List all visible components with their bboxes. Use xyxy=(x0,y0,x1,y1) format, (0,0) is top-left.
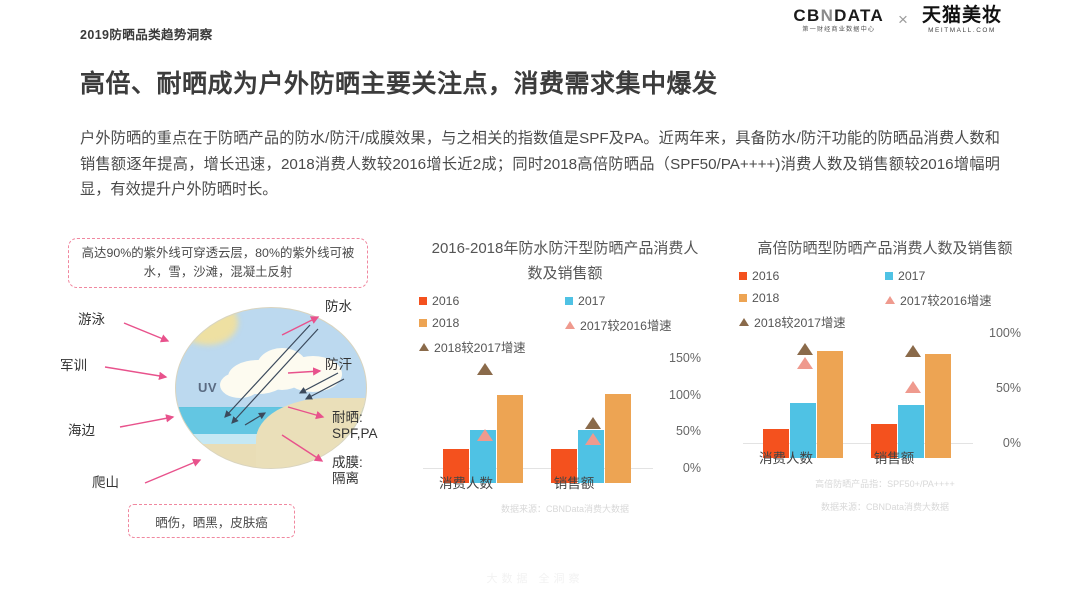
illustration-label-seaside: 海边 xyxy=(68,423,95,439)
bar-2018[interactable] xyxy=(605,394,631,484)
uv-fact-callout-text: 高达90%的紫外线可穿透云层，80%的紫外线可被水，雪，沙滩，混凝土反射 xyxy=(77,244,359,282)
legend-label-2016: 2016 xyxy=(752,269,779,283)
chart-high-spf-footnote-definition: 高倍防晒产品指：SPF50+/PA++++ xyxy=(735,476,1035,493)
page-watermark: 大数据 全洞察 xyxy=(440,570,630,586)
illustration-label-waterproof: 防水 xyxy=(325,299,352,315)
legend-label-growth-2018: 2018较2017增速 xyxy=(434,338,526,356)
legend-triangle-growth-2018 xyxy=(739,318,749,326)
chart-waterproof-footnote: 数据来源：CBNData消费大数据 xyxy=(415,501,715,518)
legend-swatch-2016 xyxy=(739,272,747,280)
legend-item-2016[interactable]: 2016 xyxy=(419,294,459,308)
legend-label-growth-2017: 2017较2016增速 xyxy=(580,316,672,334)
legend-label-growth-2017: 2017较2016增速 xyxy=(900,291,992,309)
legend-swatch-2018 xyxy=(739,294,747,302)
chart-waterproof-plot: 150% 100% 50% 0% 消费人数 销售额 xyxy=(415,358,705,483)
tmall-logo-wordmark: 天猫美妆 xyxy=(922,6,1002,25)
legend-label-2016: 2016 xyxy=(432,294,459,308)
marker-growth-2018-g0 xyxy=(477,363,493,375)
ytick: 100% xyxy=(669,388,701,402)
legend-swatch-2018 xyxy=(419,319,427,327)
bar-2018[interactable] xyxy=(925,354,951,459)
cbndata-logo-wordmark: CBNDATA xyxy=(793,7,884,24)
chart-high-spf-footnote-source: 数据来源：CBNData消费大数据 xyxy=(735,499,1035,516)
legend-item-2017[interactable]: 2017 xyxy=(565,294,605,308)
illustration-label-hiking: 爬山 xyxy=(92,475,119,491)
chart-high-spf-plot: 100% 50% 0% 消费人数 销售额 xyxy=(735,333,1025,458)
skin-damage-callout-text: 晒伤，晒黑，皮肤癌 xyxy=(155,512,268,531)
ytick: 100% xyxy=(989,326,1021,340)
category-label-1: 销售额 xyxy=(849,447,939,467)
chart-high-spf: 高倍防晒型防晒产品消费人数及销售额 2016 2017 2018 2017较20… xyxy=(735,236,1035,556)
legend-triangle-growth-2018 xyxy=(419,343,429,351)
category-label-1: 销售额 xyxy=(529,472,619,492)
skin-damage-callout: 晒伤，晒黑，皮肤癌 xyxy=(128,504,295,538)
ytick: 50% xyxy=(996,381,1021,395)
cbndata-logo: CBNDATA 第一财经商业数据中心 xyxy=(793,7,884,33)
legend-triangle-growth-2017 xyxy=(565,321,575,329)
legend-item-2018[interactable]: 2018 xyxy=(419,316,459,330)
illustration-label-sweatproof: 防汗 xyxy=(325,357,352,373)
marker-growth-2018-g0 xyxy=(797,343,813,355)
legend-swatch-2017 xyxy=(885,272,893,280)
legend-item-growth-2017[interactable]: 2017较2016增速 xyxy=(885,291,992,309)
illustration-label-film-line2: 隔离 xyxy=(332,471,359,486)
illustration-label-film: 成膜: 隔离 xyxy=(332,455,363,487)
illustration-label-spf: 耐晒: SPF,PA xyxy=(332,410,378,442)
body-paragraph: 户外防晒的重点在于防晒产品的防水/防汗/成膜效果，与之相关的指数值是SPF及PA… xyxy=(80,126,1000,203)
marker-growth-2017-g0 xyxy=(477,429,493,441)
marker-growth-2018-g1 xyxy=(585,417,601,429)
legend-item-2016[interactable]: 2016 xyxy=(739,269,779,283)
legend-item-2017[interactable]: 2017 xyxy=(885,269,925,283)
legend-item-2018[interactable]: 2018 xyxy=(739,291,779,305)
bar-group-1 xyxy=(871,348,951,458)
legend-item-growth-2017[interactable]: 2017较2016增速 xyxy=(565,316,672,334)
legend-item-growth-2018[interactable]: 2018较2017增速 xyxy=(739,313,846,331)
illustration-label-military-training: 军训 xyxy=(60,358,87,374)
bar-2018[interactable] xyxy=(497,395,523,483)
chart-high-spf-legend: 2016 2017 2018 2017较2016增速 2018较2017增速 xyxy=(735,269,1025,329)
page-title: 高倍、耐晒成为户外防晒主要关注点，消费需求集中爆发 xyxy=(80,64,718,100)
illustration-label-film-line1: 成膜: xyxy=(332,455,363,470)
marker-growth-2018-g1 xyxy=(905,345,921,357)
legend-swatch-2017 xyxy=(565,297,573,305)
logo-group: CBNDATA 第一财经商业数据中心 × 天猫美妆 MEITMALL.COM xyxy=(793,6,1002,34)
chart-high-spf-title: 高倍防晒型防晒产品消费人数及销售额 xyxy=(750,236,1020,261)
chart-waterproof-yticks: 150% 100% 50% 0% xyxy=(651,358,705,468)
tmall-logo-subtitle: MEITMALL.COM xyxy=(928,28,996,34)
illustration-label-spf-line1: 耐晒: xyxy=(332,410,363,425)
bar-2018[interactable] xyxy=(817,351,843,458)
legend-item-growth-2018[interactable]: 2018较2017增速 xyxy=(419,338,526,356)
marker-growth-2017-g1 xyxy=(585,433,601,445)
legend-swatch-2016 xyxy=(419,297,427,305)
legend-label-2018: 2018 xyxy=(432,316,459,330)
slide-header: 2019防晒品类趋势洞察 CBNDATA 第一财经商业数据中心 × 天猫美妆 M… xyxy=(0,0,1080,50)
legend-label-growth-2018: 2018较2017增速 xyxy=(754,313,846,331)
ytick: 150% xyxy=(669,351,701,365)
legend-label-2017: 2017 xyxy=(898,269,925,283)
cbndata-logo-subtitle: 第一财经商业数据中心 xyxy=(802,27,875,33)
legend-label-2017: 2017 xyxy=(578,294,605,308)
chart-high-spf-yticks: 100% 50% 0% xyxy=(971,333,1025,443)
marker-growth-2017-g1 xyxy=(905,381,921,393)
chart-waterproof-legend: 2016 2017 2018 2017较2016增速 2018较2017增速 xyxy=(415,294,705,354)
logo-separator-icon: × xyxy=(898,10,908,30)
ytick: 0% xyxy=(1003,436,1021,450)
tmall-beauty-logo: 天猫美妆 MEITMALL.COM xyxy=(922,6,1002,34)
slide-page: 2019防晒品类趋势洞察 CBNDATA 第一财经商业数据中心 × 天猫美妆 M… xyxy=(0,0,1080,601)
chart-waterproof: 2016-2018年防水防汗型防晒产品消费人数及销售额 2016 2017 20… xyxy=(415,236,715,556)
report-kicker: 2019防晒品类趋势洞察 xyxy=(80,24,213,43)
category-label-0: 消费人数 xyxy=(421,472,511,492)
chart-waterproof-title: 2016-2018年防水防汗型防晒产品消费人数及销售额 xyxy=(430,236,700,286)
illustration-label-spf-line2: SPF,PA xyxy=(332,426,378,441)
marker-growth-2017-g0 xyxy=(797,357,813,369)
category-label-0: 消费人数 xyxy=(741,447,831,467)
uv-fact-callout: 高达90%的紫外线可穿透云层，80%的紫外线可被水，雪，沙滩，混凝土反射 xyxy=(68,238,368,288)
ytick: 50% xyxy=(676,424,701,438)
ytick: 0% xyxy=(683,461,701,475)
legend-triangle-growth-2017 xyxy=(885,296,895,304)
illustration-label-swimming: 游泳 xyxy=(78,312,105,328)
legend-label-2018: 2018 xyxy=(752,291,779,305)
